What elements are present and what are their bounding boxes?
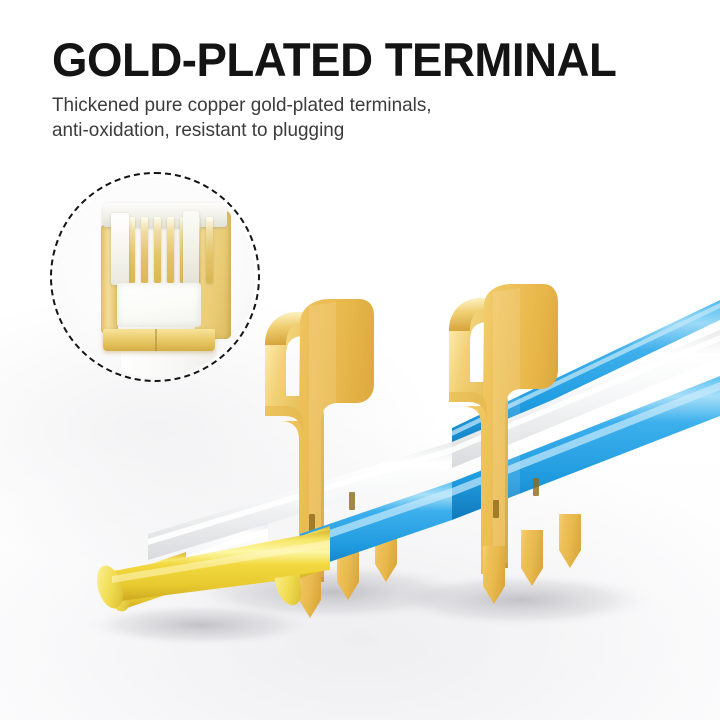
ground-shadow-right [380, 572, 660, 628]
product-image-canvas: GOLD-PLATED TERMINAL Thickened pure copp… [0, 0, 720, 720]
terminal-right-slot-2 [533, 478, 539, 496]
terminal-right-prong-3 [559, 514, 581, 568]
ground-shadow-rod [80, 603, 320, 647]
terminal-left-slot-2 [349, 492, 355, 510]
terminal-right-sheen [493, 288, 520, 566]
terminal-scene-svg [0, 0, 720, 720]
terminal-right-slot-1 [493, 500, 499, 518]
terminal-scene [0, 0, 720, 720]
